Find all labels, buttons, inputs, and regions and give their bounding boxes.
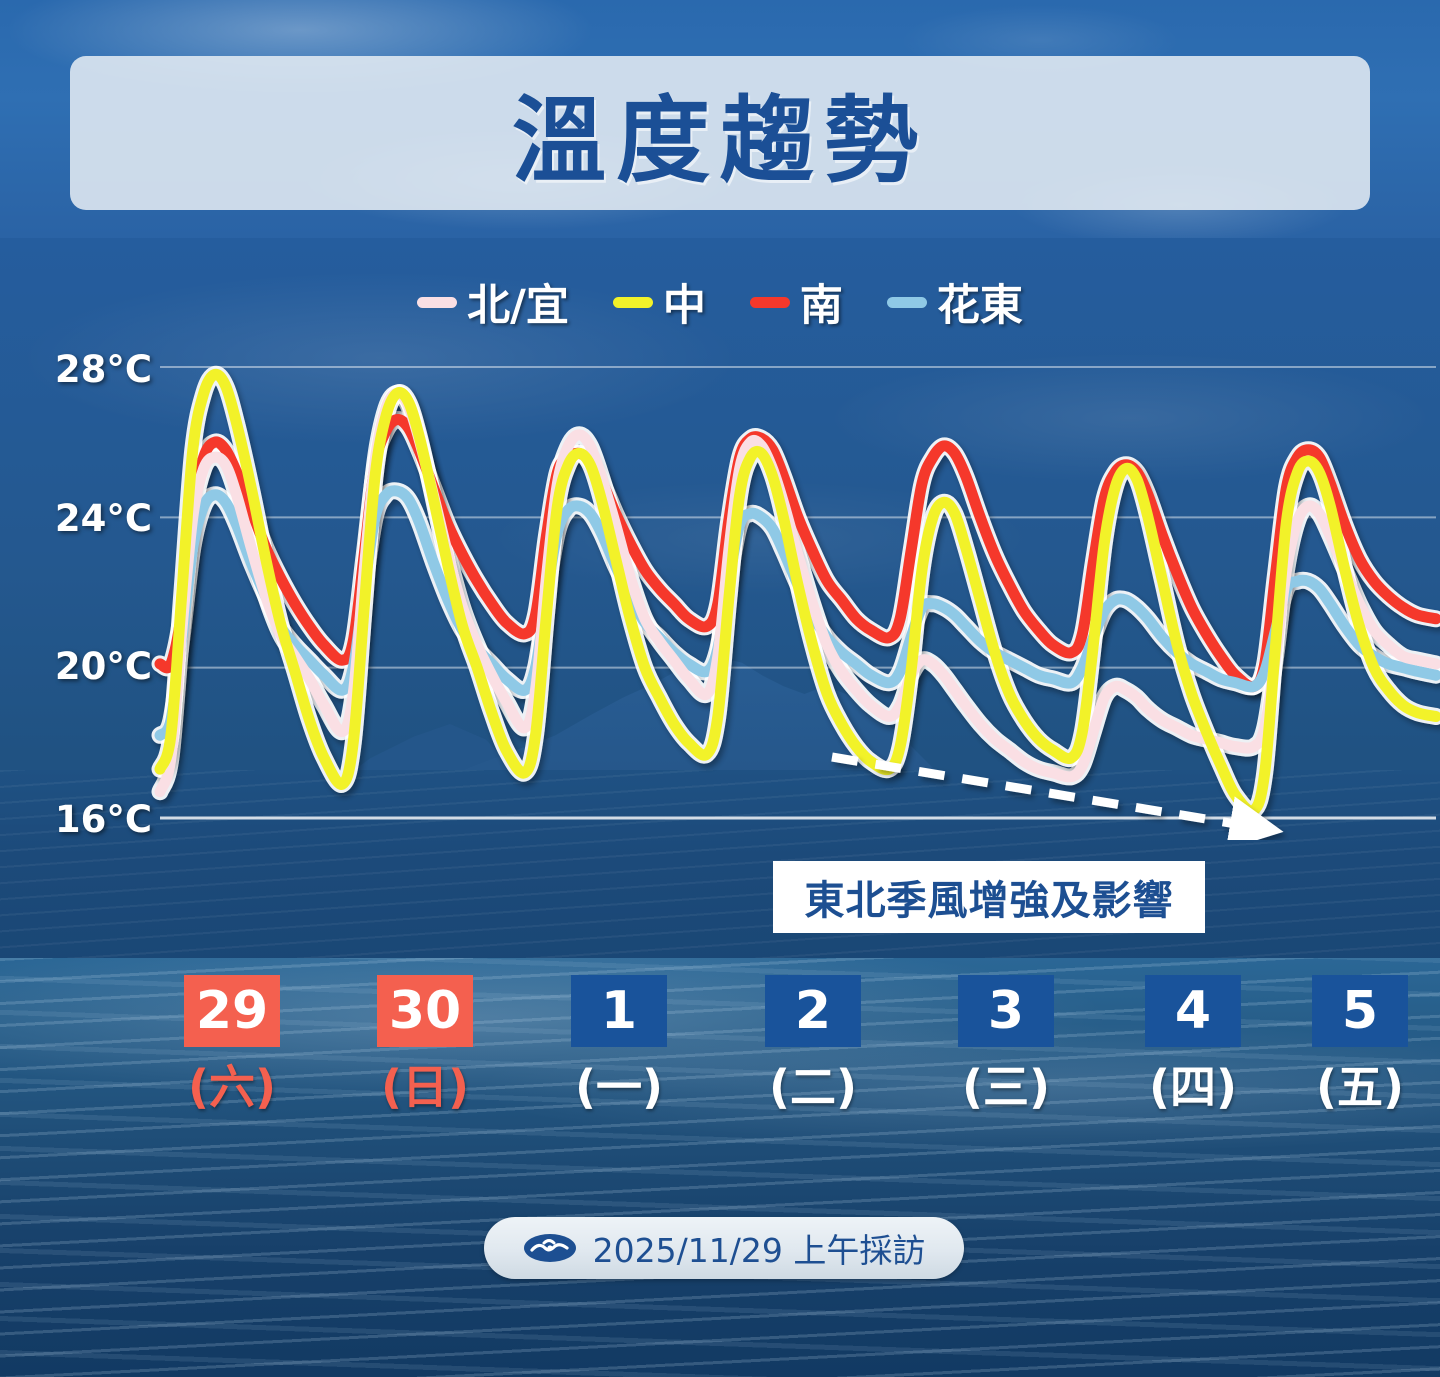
day-column-2[interactable]: 2 (二) xyxy=(733,975,893,1117)
day-dow-2: (二) xyxy=(733,1051,893,1117)
day-column-30[interactable]: 30 (日) xyxy=(345,975,505,1117)
day-chip-1: 1 xyxy=(571,975,667,1047)
day-column-3[interactable]: 3 (三) xyxy=(926,975,1086,1117)
footer-source-text: 2025/11/29 上午採訪 xyxy=(593,1224,926,1272)
annotation-text: 東北季風增強及影響 xyxy=(805,868,1174,926)
annotation-box: 東北季風增強及影響 xyxy=(773,861,1205,933)
day-dow-1: (一) xyxy=(539,1051,699,1117)
bird-wave-logo-icon xyxy=(523,1231,577,1265)
day-column-1[interactable]: 1 (一) xyxy=(539,975,699,1117)
weather-temperature-trend-graphic: 溫度趨勢 北/宜 中 南 花東 28°C 24°C 20°C 16°C xyxy=(0,0,1440,1377)
day-column-4[interactable]: 4 (四) xyxy=(1113,975,1273,1117)
day-column-5[interactable]: 5 (五) xyxy=(1280,975,1440,1117)
day-dow-29: (六) xyxy=(152,1051,312,1117)
day-axis: 29 (六) 30 (日) 1 (一) 2 (二) 3 (三) 4 (四) 5 … xyxy=(0,975,1440,1115)
day-chip-4: 4 xyxy=(1145,975,1241,1047)
day-dow-5: (五) xyxy=(1280,1051,1440,1117)
day-chip-29: 29 xyxy=(184,975,280,1047)
day-chip-5: 5 xyxy=(1312,975,1408,1047)
day-dow-30: (日) xyxy=(345,1051,505,1117)
footer-source-pill[interactable]: 2025/11/29 上午採訪 xyxy=(484,1217,964,1279)
day-dow-3: (三) xyxy=(926,1051,1086,1117)
day-dow-4: (四) xyxy=(1113,1051,1273,1117)
day-chip-3: 3 xyxy=(958,975,1054,1047)
temperature-trend-chart xyxy=(0,0,1440,1377)
day-chip-2: 2 xyxy=(765,975,861,1047)
day-chip-30: 30 xyxy=(377,975,473,1047)
day-column-29[interactable]: 29 (六) xyxy=(152,975,312,1117)
